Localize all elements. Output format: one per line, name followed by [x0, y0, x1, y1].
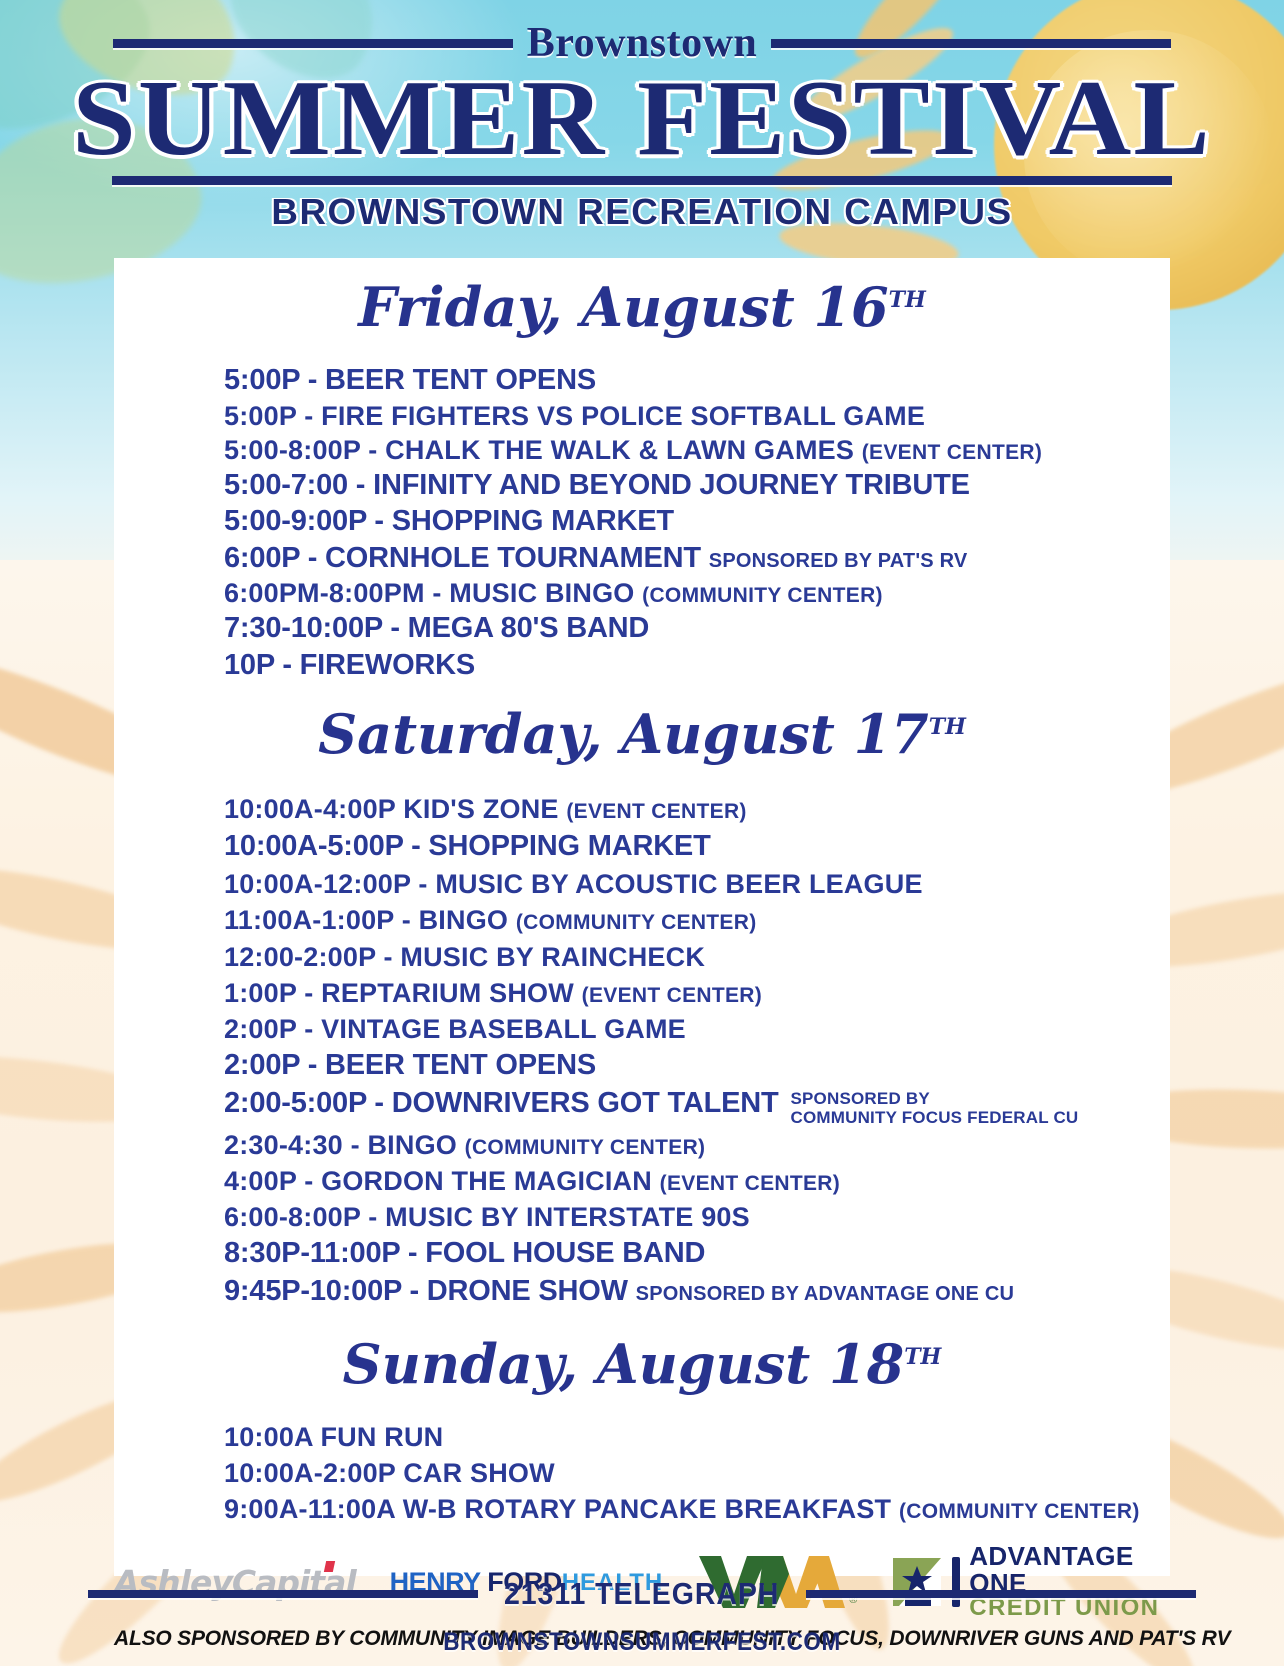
rule-right: [771, 39, 1171, 48]
events-saturday: 10:00A-4:00P KID'S ZONE (EVENT CENTER) 1…: [114, 791, 1170, 1311]
venue-subtitle: BROWNSTOWN RECREATION CAMPUS: [0, 191, 1284, 233]
page-title: SUMMER FESTIVAL: [0, 66, 1284, 172]
day-heading-saturday-text: Saturday, August 17: [318, 702, 929, 766]
day-heading-sunday: Sunday, August 18TH: [114, 1337, 1170, 1391]
talent-row: 2:00-5:00P - DOWNRIVERS GOT TALENT SPONS…: [224, 1085, 1170, 1127]
event-item: 11:00A-1:00P - BINGO (COMMUNITY CENTER): [224, 902, 1170, 938]
event-note: (COMMUNITY CENTER): [899, 1500, 1140, 1523]
event-note: (EVENT CENTER): [660, 1172, 840, 1195]
rule-left: [113, 39, 513, 48]
venue-address: 21311 TELEGRAPH: [504, 1576, 779, 1612]
event-text: 2:00P - BEER TENT OPENS: [224, 1049, 596, 1081]
brand-eyebrow: Brownstown: [527, 22, 758, 64]
day-heading-friday-text: Friday, August 16: [358, 275, 888, 339]
event-text: 5:00-9:00P - SHOPPING MARKET: [224, 505, 674, 537]
event-item: 10:00A-2:00P CAR SHOW: [224, 1455, 1170, 1491]
event-item: 5:00P - FIRE FIGHTERS VS POLICE SOFTBALL…: [224, 399, 1170, 433]
event-item: 5:00-8:00P - CHALK THE WALK & LAWN GAMES…: [224, 433, 1170, 467]
day-heading-friday-sup: TH: [889, 287, 926, 313]
schedule-panel: Friday, August 16TH 5:00P - BEER TENT OP…: [114, 258, 1170, 1576]
event-text: 10:00A-2:00P CAR SHOW: [224, 1458, 555, 1488]
event-item: 7:30-10:00P - MEGA 80'S BAND: [224, 610, 1170, 647]
event-item: 9:45P-10:00P - DRONE SHOW SPONSORED BY A…: [224, 1273, 1170, 1311]
event-sponsor: SPONSORED BY PAT'S RV: [709, 550, 968, 572]
event-text: 5:00P - FIRE FIGHTERS VS POLICE SOFTBALL…: [224, 401, 925, 431]
event-note: (EVENT CENTER): [862, 441, 1042, 464]
event-text: 9:00A-11:00A W-B ROTARY PANCAKE BREAKFAS…: [224, 1494, 891, 1524]
event-text: 11:00A-1:00P - BINGO: [224, 905, 508, 935]
footer-rule-left: [88, 1590, 478, 1598]
event-sponsor: SPONSORED BY ADVANTAGE ONE CU: [636, 1283, 1014, 1305]
event-item: 10:00A FUN RUN: [224, 1419, 1170, 1455]
event-item: 5:00P - BEER TENT OPENS: [224, 362, 1170, 399]
events-friday: 5:00P - BEER TENT OPENS 5:00P - FIRE FIG…: [114, 362, 1170, 683]
day-heading-saturday-sup: TH: [929, 714, 966, 740]
event-item: 2:00P - VINTAGE BASEBALL GAME: [224, 1011, 1170, 1047]
event-item: 4:00P - GORDON THE MAGICIAN (EVENT CENTE…: [224, 1163, 1170, 1199]
event-item: 2:30-4:30 - BINGO (COMMUNITY CENTER): [224, 1127, 1170, 1163]
ashley-capital-accent-icon: [323, 1561, 334, 1572]
event-note: (COMMUNITY CENTER): [465, 1136, 706, 1159]
event-item: 2:00P - BEER TENT OPENS: [224, 1047, 1170, 1085]
poster-header: Brownstown SUMMER FESTIVAL BROWNSTOWN RE…: [0, 0, 1284, 258]
event-note: (COMMUNITY CENTER): [516, 911, 757, 934]
event-sponsor: SPONSORED BY COMMUNITY FOCUS FEDERAL CU: [790, 1085, 1078, 1127]
event-text: 6:00-8:00P - MUSIC BY INTERSTATE 90S: [224, 1202, 750, 1232]
event-text: 12:00-2:00P - MUSIC BY RAINCHECK: [224, 942, 705, 972]
event-text: 10P - FIREWORKS: [224, 649, 475, 681]
event-item: 10P - FIREWORKS: [224, 647, 1170, 684]
footer-address-row: 21311 TELEGRAPH: [0, 1576, 1284, 1612]
events-sunday: 10:00A FUN RUN 10:00A-2:00P CAR SHOW 9:0…: [114, 1419, 1170, 1528]
event-text: 2:00-5:00P - DOWNRIVERS GOT TALENT: [224, 1085, 778, 1123]
website-url: BROWNSTOWNSUMMERFEST.COM: [64, 1628, 1220, 1657]
event-text: 7:30-10:00P - MEGA 80'S BAND: [224, 612, 649, 644]
sponsor-line-1: SPONSORED BY: [790, 1089, 929, 1108]
event-text: 1:00P - REPTARIUM SHOW: [224, 978, 574, 1008]
event-note: (EVENT CENTER): [582, 984, 762, 1007]
sponsor-line-2: COMMUNITY FOCUS FEDERAL CU: [790, 1108, 1078, 1127]
event-item: 8:30P-11:00P - FOOL HOUSE BAND: [224, 1235, 1170, 1273]
event-text: 5:00-8:00P - CHALK THE WALK & LAWN GAMES: [224, 435, 854, 465]
event-text: 6:00P - CORNHOLE TOURNAMENT: [224, 542, 701, 574]
event-item: 1:00P - REPTARIUM SHOW (EVENT CENTER): [224, 975, 1170, 1011]
event-item: 5:00-7:00 - INFINITY AND BEYOND JOURNEY …: [224, 467, 1170, 504]
event-item-talent: 2:00-5:00P - DOWNRIVERS GOT TALENT SPONS…: [224, 1085, 1170, 1127]
event-text: 4:00P - GORDON THE MAGICIAN: [224, 1166, 652, 1196]
day-heading-sunday-sup: TH: [904, 1344, 941, 1370]
event-text: 8:30P-11:00P - FOOL HOUSE BAND: [224, 1237, 705, 1269]
day-heading-friday: Friday, August 16TH: [114, 280, 1170, 334]
event-text: 10:00A FUN RUN: [224, 1422, 443, 1452]
event-text: 10:00A-5:00P - SHOPPING MARKET: [224, 830, 711, 862]
event-item: 10:00A-5:00P - SHOPPING MARKET: [224, 827, 1170, 866]
event-note: (EVENT CENTER): [566, 800, 746, 823]
event-text: 9:45P-10:00P - DRONE SHOW: [224, 1275, 628, 1307]
event-item: 10:00A-4:00P KID'S ZONE (EVENT CENTER): [224, 791, 1170, 827]
event-item: 6:00-8:00P - MUSIC BY INTERSTATE 90S: [224, 1199, 1170, 1235]
event-item: 5:00-9:00P - SHOPPING MARKET: [224, 503, 1170, 540]
event-text: 10:00A-12:00P - MUSIC BY ACOUSTIC BEER L…: [224, 869, 923, 899]
event-text: 2:00P - VINTAGE BASEBALL GAME: [224, 1014, 686, 1044]
day-heading-saturday: Saturday, August 17TH: [114, 707, 1170, 761]
event-item: 6:00PM-8:00PM - MUSIC BINGO (COMMUNITY C…: [224, 576, 1170, 610]
eyebrow-rule-row: Brownstown: [0, 22, 1284, 64]
event-text: 2:30-4:30 - BINGO: [224, 1130, 457, 1160]
event-item: 9:00A-11:00A W-B ROTARY PANCAKE BREAKFAS…: [224, 1491, 1170, 1527]
event-text: 5:00P - BEER TENT OPENS: [224, 364, 596, 396]
event-item: 10:00A-12:00P - MUSIC BY ACOUSTIC BEER L…: [224, 866, 1170, 902]
day-heading-sunday-text: Sunday, August 18: [343, 1332, 905, 1396]
event-text: 10:00A-4:00P KID'S ZONE: [224, 794, 559, 824]
footer-rule-right: [806, 1590, 1196, 1598]
poster-footer: 21311 TELEGRAPH BROWNSTOWNSUMMERFEST.COM: [0, 1576, 1284, 1657]
event-item: 12:00-2:00P - MUSIC BY RAINCHECK: [224, 939, 1170, 975]
event-item: 6:00P - CORNHOLE TOURNAMENT SPONSORED BY…: [224, 540, 1170, 577]
event-text: 5:00-7:00 - INFINITY AND BEYOND JOURNEY …: [224, 469, 970, 501]
event-text: 6:00PM-8:00PM - MUSIC BINGO: [224, 578, 634, 608]
event-note: (COMMUNITY CENTER): [642, 584, 883, 607]
